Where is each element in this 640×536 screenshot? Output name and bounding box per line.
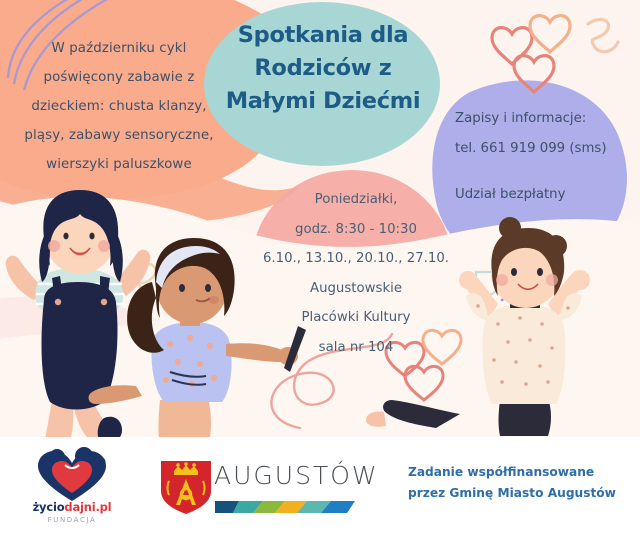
title-line-3: Małymi Dziećmi	[214, 85, 432, 118]
foundation-wordmark: życiodajni.pl FUNDACJA	[12, 500, 132, 524]
cofunding-line-1: Zadanie współfinansowane	[408, 462, 630, 483]
cofunding-line-2: przez Gminę Miasto Augustów	[408, 483, 630, 504]
signup-label: Zapisy i informacje:	[455, 104, 635, 134]
cofunding-note: Zadanie współfinansowane przez Gminę Mia…	[408, 462, 630, 504]
contact-info-block: Zapisy i informacje: tel. 661 919 099 (s…	[455, 104, 635, 210]
hair-bun	[545, 235, 567, 257]
hair-bun	[499, 217, 521, 239]
poster-canvas: W październiku cykl poświęcony zabawie z…	[0, 0, 640, 536]
venue-room: sala nr 104	[258, 333, 454, 363]
schedule-dates: 6.10., 13.10., 20.10., 27.10.	[258, 244, 454, 274]
city-wordmark: AUGUSTÓW	[214, 461, 379, 490]
schedule-day: Poniedziałki,	[258, 185, 454, 215]
phone-number[interactable]: tel. 661 919 099 (sms)	[455, 134, 635, 164]
city-color-bar	[215, 501, 355, 513]
venue-line-1: Augustowskie	[258, 274, 454, 304]
title-line-2: Rodziców z	[214, 52, 432, 85]
foundation-subtitle: FUNDACJA	[12, 516, 132, 524]
footer-bar: życiodajni.pl FUNDACJA	[0, 437, 640, 536]
spacer	[455, 164, 635, 180]
intro-paragraph: W październiku cykl poświęcony zabawie z…	[14, 34, 224, 179]
schedule-block: Poniedziałki, godz. 8:30 - 10:30 6.10., …	[258, 185, 454, 362]
page-title: Spotkania dla Rodziców z Małymi Dziećmi	[214, 19, 432, 118]
schedule-hours: godz. 8:30 - 10:30	[258, 215, 454, 245]
venue-line-2: Placówki Kultury	[258, 303, 454, 333]
title-line-1: Spotkania dla	[214, 19, 432, 52]
foundation-name-part2: dajni.pl	[64, 500, 111, 514]
foundation-name-part1: życio	[33, 500, 65, 514]
free-participation-note: Udział bezpłatny	[455, 180, 635, 210]
